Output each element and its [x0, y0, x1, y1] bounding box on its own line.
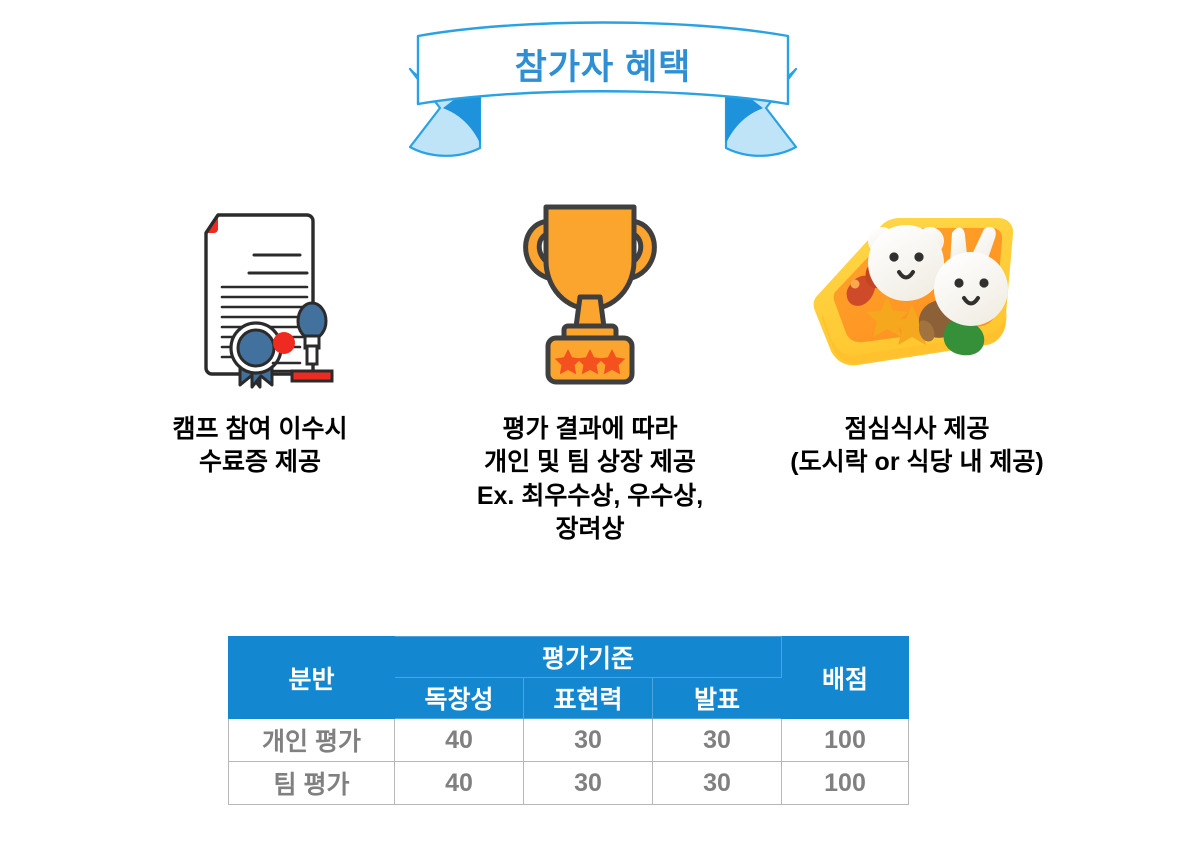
- cell-originality: 40: [395, 719, 524, 762]
- cell-expression: 30: [524, 762, 653, 805]
- cell-expression: 30: [524, 719, 653, 762]
- trophy-stem: [576, 297, 604, 327]
- lunchbox-icon: [802, 193, 1032, 393]
- cell-total: 100: [782, 719, 909, 762]
- benefit-card-lunch: 점심식사 제공 (도시락 or 식당 내 제공): [727, 190, 1107, 480]
- benefit-caption-lunch: 점심식사 제공 (도시락 or 식당 내 제공): [727, 413, 1107, 480]
- benefit-card-award: 평가 결과에 따라 개인 및 팀 상장 제공 Ex. 최우수상, 우수상, 장려…: [400, 190, 780, 546]
- lunchbox-icon-wrap: [727, 190, 1107, 395]
- evaluation-criteria-table: 분반 평가기준 배점 독창성 표현력 발표 개인 평가 40 30 30 100…: [228, 636, 909, 805]
- certificate-icon: [160, 193, 360, 393]
- trophy-icon: [490, 193, 690, 393]
- stamp-stem: [307, 346, 317, 364]
- rice-ball-bear-head: [868, 225, 944, 301]
- rice-ball-bunny-eye-left: [954, 278, 963, 287]
- certificate-seal-inner: [238, 330, 274, 366]
- table-header-row-1: 분반 평가기준 배점: [229, 637, 909, 678]
- header-total: 배점: [782, 637, 909, 719]
- rice-ball-bunny-eye-right: [979, 278, 988, 287]
- banner-title: 참가자 혜택: [348, 14, 858, 114]
- benefits-row: 캠프 참여 이수시 수료증 제공: [0, 190, 1197, 590]
- benefit-caption-certificate: 캠프 참여 이수시 수료증 제공: [70, 413, 450, 480]
- header-criterion-expression: 표현력: [524, 678, 653, 719]
- banner-section: 참가자 혜택: [0, 14, 1197, 174]
- header-criterion-originality: 독창성: [395, 678, 524, 719]
- cell-presentation: 30: [653, 719, 782, 762]
- table-row: 개인 평가 40 30 30 100: [229, 719, 909, 762]
- cell-category: 개인 평가: [229, 719, 395, 762]
- header-criterion-presentation: 발표: [653, 678, 782, 719]
- cell-originality: 40: [395, 762, 524, 805]
- table-body: 개인 평가 40 30 30 100 팀 평가 40 30 30 100: [229, 719, 909, 805]
- cell-presentation: 30: [653, 762, 782, 805]
- table-row: 팀 평가 40 30 30 100: [229, 762, 909, 805]
- rice-ball-bear-eye-right: [914, 252, 923, 261]
- stamp-base-pad: [292, 371, 332, 381]
- certificate-icon-wrap: [70, 190, 450, 395]
- lunchbox-sausage-1-flower: [851, 279, 860, 288]
- certificate-red-dot: [273, 332, 295, 354]
- trophy-icon-wrap: [400, 190, 780, 395]
- trophy-cup: [546, 207, 634, 309]
- benefit-card-certificate: 캠프 참여 이수시 수료증 제공: [70, 190, 450, 480]
- benefit-caption-award: 평가 결과에 따라 개인 및 팀 상장 제공 Ex. 최우수상, 우수상, 장려…: [400, 413, 780, 546]
- score-table-wrap: 분반 평가기준 배점 독창성 표현력 발표 개인 평가 40 30 30 100…: [228, 636, 909, 805]
- table-head: 분반 평가기준 배점 독창성 표현력 발표: [229, 637, 909, 719]
- stamp-knob: [298, 303, 326, 339]
- rice-ball-bear-eye-left: [889, 252, 898, 261]
- cell-total: 100: [782, 762, 909, 805]
- header-criteria-group: 평가기준: [395, 637, 782, 678]
- rice-ball-bunny-head: [934, 252, 1008, 326]
- header-category: 분반: [229, 637, 395, 719]
- cell-category: 팀 평가: [229, 762, 395, 805]
